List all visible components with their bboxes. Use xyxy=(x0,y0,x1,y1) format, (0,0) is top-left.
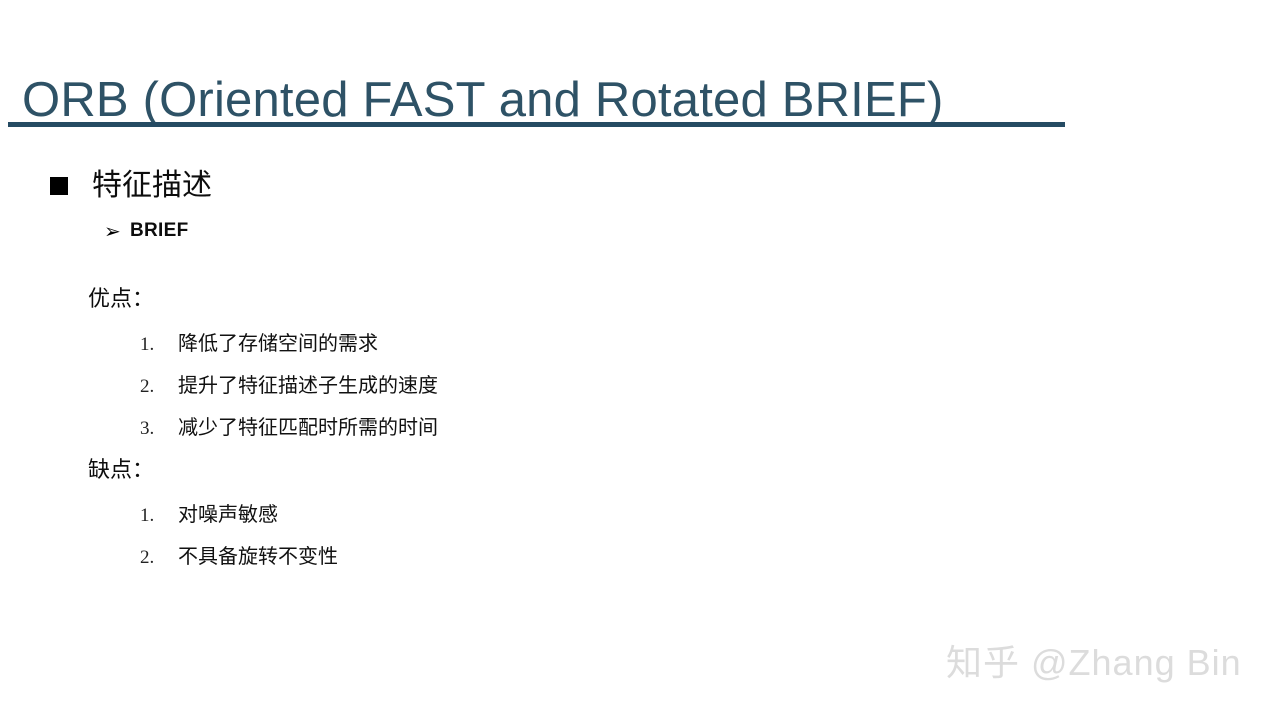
list-item: 3. 减少了特征匹配时所需的时间 xyxy=(88,414,438,456)
list-item-number: 2. xyxy=(140,373,178,401)
list-item: 2. 提升了特征描述子生成的速度 xyxy=(88,372,438,414)
list-item-number: 2. xyxy=(140,544,178,572)
section-label: 缺点： xyxy=(88,455,338,485)
list-item-text: 对噪声敏感 xyxy=(178,501,278,529)
list-item: 1. 降低了存储空间的需求 xyxy=(88,330,438,372)
list-item-number: 1. xyxy=(140,331,178,359)
section-label: 优点： xyxy=(88,284,438,314)
watermark: 知乎 @Zhang Bin xyxy=(946,640,1242,686)
outline-level1-label: 特征描述 xyxy=(92,168,212,204)
section-drawbacks: 缺点： 1. 对噪声敏感 2. 不具备旋转不变性 xyxy=(88,455,338,585)
outline-level2-label: BRIEF xyxy=(130,218,189,244)
outline-level2: ➢ BRIEF xyxy=(104,218,189,244)
list-item: 1. 对噪声敏感 xyxy=(88,501,338,543)
drawbacks-list: 1. 对噪声敏感 2. 不具备旋转不变性 xyxy=(88,501,338,585)
list-item: 2. 不具备旋转不变性 xyxy=(88,543,338,585)
advantages-list: 1. 降低了存储空间的需求 2. 提升了特征描述子生成的速度 3. 减少了特征匹… xyxy=(88,330,438,456)
section-advantages: 优点： 1. 降低了存储空间的需求 2. 提升了特征描述子生成的速度 3. 减少… xyxy=(88,284,438,456)
list-item-text: 不具备旋转不变性 xyxy=(178,543,338,571)
arrow-bullet-icon: ➢ xyxy=(104,221,130,241)
list-item-number: 3. xyxy=(140,415,178,443)
slide-canvas: ORB (Oriented FAST and Rotated BRIEF) 特征… xyxy=(0,0,1280,720)
outline-level1: 特征描述 xyxy=(50,168,212,204)
list-item-text: 减少了特征匹配时所需的时间 xyxy=(178,414,438,442)
list-item-text: 降低了存储空间的需求 xyxy=(178,330,378,358)
title-divider xyxy=(8,122,1065,127)
square-bullet-icon xyxy=(50,177,68,195)
list-item-text: 提升了特征描述子生成的速度 xyxy=(178,372,438,400)
list-item-number: 1. xyxy=(140,502,178,530)
